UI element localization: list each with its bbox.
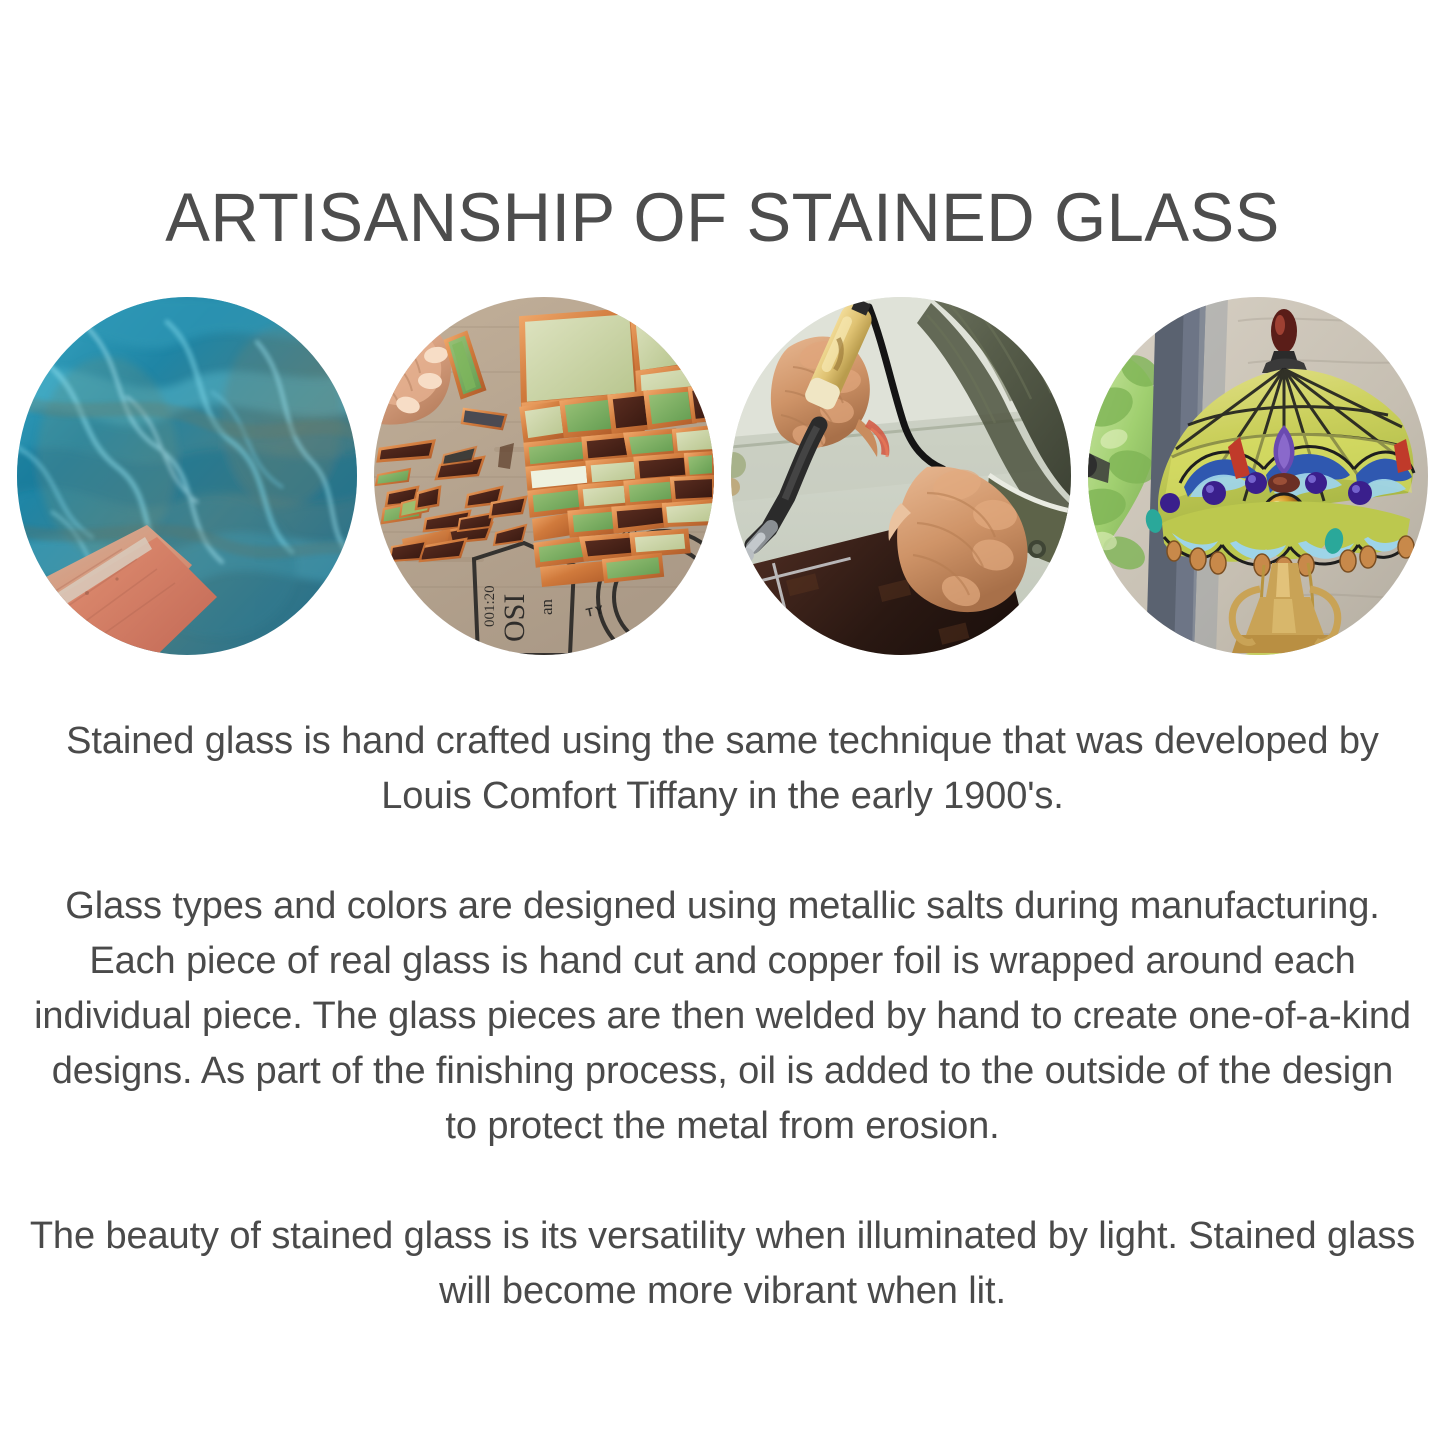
paragraph-history: Stained glass is hand crafted using the … [0, 714, 1445, 824]
infographic-page: ARTISANSHIP OF STAINED GLASS [0, 0, 1445, 1445]
stamp-text-code: 001:20 [482, 585, 498, 627]
image-gallery: SUPER QU TY CM OSI an 001:20 [0, 297, 1445, 657]
gallery-image-blue-marbled-glass-sheet [17, 297, 357, 655]
paragraph-beauty: The beauty of stained glass is its versa… [0, 1209, 1445, 1319]
copper-foil-pieces-illustration: SUPER QU TY CM OSI an 001:20 [374, 297, 714, 655]
stamp-text-osi: OSI [498, 594, 531, 642]
stamp-text-cm: CM [668, 640, 692, 655]
stamp-text-an: an [537, 598, 556, 615]
soldering-illustration [731, 297, 1071, 655]
gallery-image-soldering-copper-foil-grid [731, 297, 1071, 655]
paragraph-process: Glass types and colors are designed usin… [0, 879, 1445, 1154]
tiffany-lamp-illustration [1088, 297, 1428, 655]
blue-marbled-glass-illustration [17, 297, 357, 655]
gallery-image-copper-foiled-glass-pieces: SUPER QU TY CM OSI an 001:20 [374, 297, 714, 655]
gallery-image-tiffany-stained-glass-lamp [1088, 297, 1428, 655]
page-title: ARTISANSHIP OF STAINED GLASS [22, 178, 1424, 258]
